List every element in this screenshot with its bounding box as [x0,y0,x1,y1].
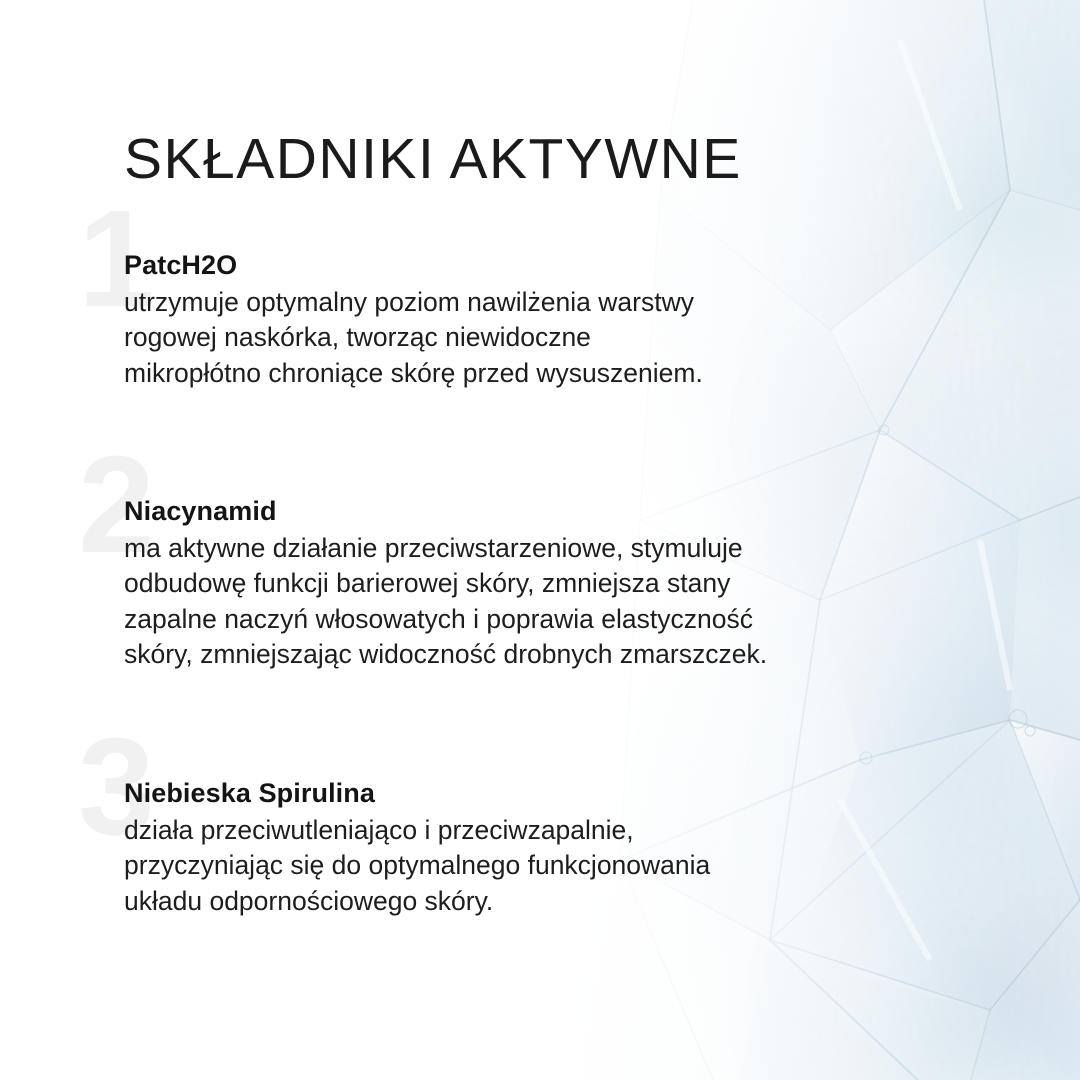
ingredient-name: Niacynamid [124,494,924,529]
ingredient-name: Niebieska Spirulina [124,776,924,811]
slide-canvas: SKŁADNIKI AKTYWNE 1 PatcH2O utrzymuje op… [0,0,1080,1080]
ingredient-name: PatcH2O [124,248,924,283]
ingredient-description: działa przeciwutleniająco i przeciwzapal… [124,813,924,920]
page-title: SKŁADNIKI AKTYWNE [124,130,742,190]
slide-content: SKŁADNIKI AKTYWNE 1 PatcH2O utrzymuje op… [0,0,1080,1080]
ingredient-text-block: Niacynamid ma aktywne działanie przeciws… [124,494,924,673]
ingredient-text-block: PatcH2O utrzymuje optymalny poziom nawil… [124,248,924,391]
ingredient-text-block: Niebieska Spirulina działa przeciwutleni… [124,776,924,919]
ingredient-description: ma aktywne działanie przeciwstarzeniowe,… [124,531,924,673]
ingredient-description: utrzymuje optymalny poziom nawilżenia wa… [124,285,924,392]
